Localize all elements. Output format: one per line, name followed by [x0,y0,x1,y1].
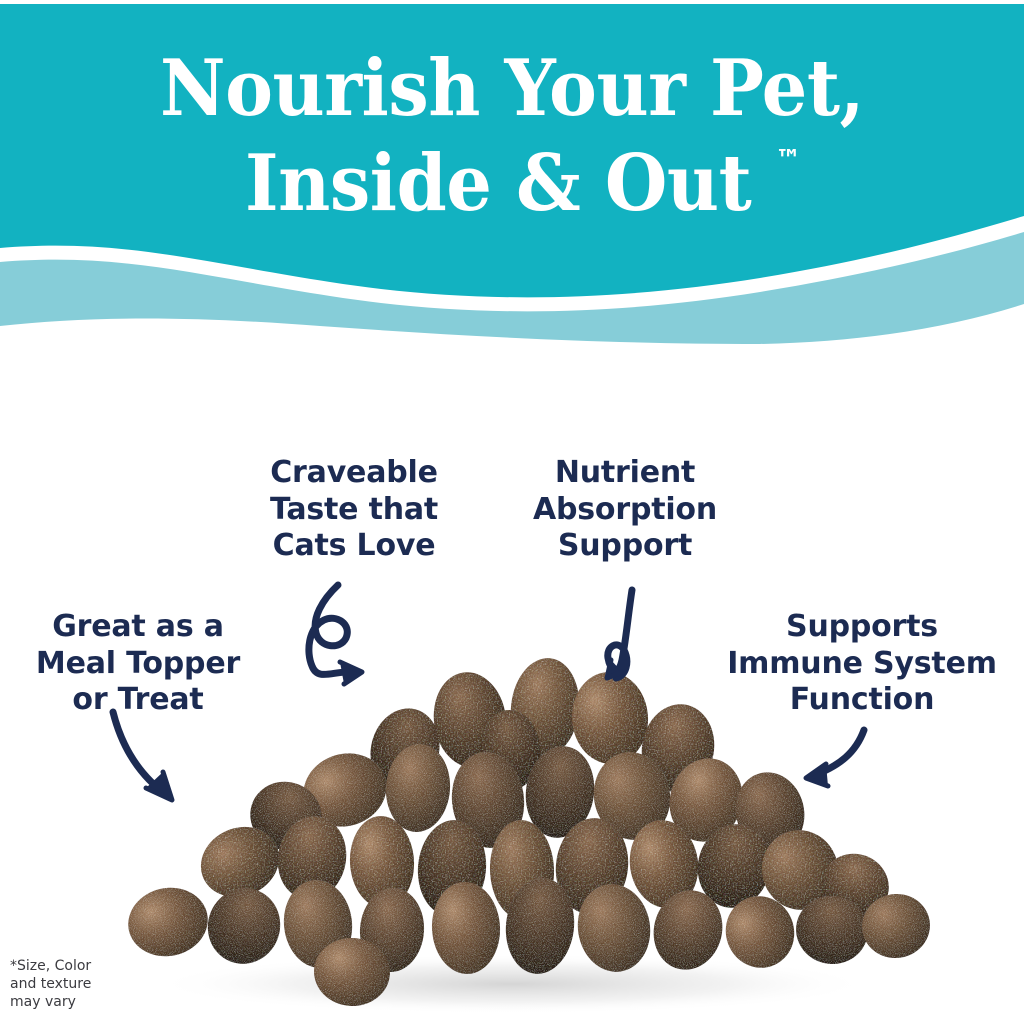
disclaimer-footnote: *Size, Color and texture may vary [10,958,91,1012]
header-banner: Nourish Your Pet, Inside & Out ™ [0,4,1024,344]
feature-label-immune-system: Supports Immune System Function [700,609,1024,719]
product-feature-infographic: Nourish Your Pet, Inside & Out ™ [0,0,1024,1024]
feature-label-craveable-taste: Craveable Taste that Cats Love [240,455,468,565]
banner-wave-shape [0,4,1024,344]
feature-label-nutrient-absorption: Nutrient Absorption Support [508,455,742,565]
feature-label-meal-topper: Great as a Meal Topper or Treat [8,609,268,719]
